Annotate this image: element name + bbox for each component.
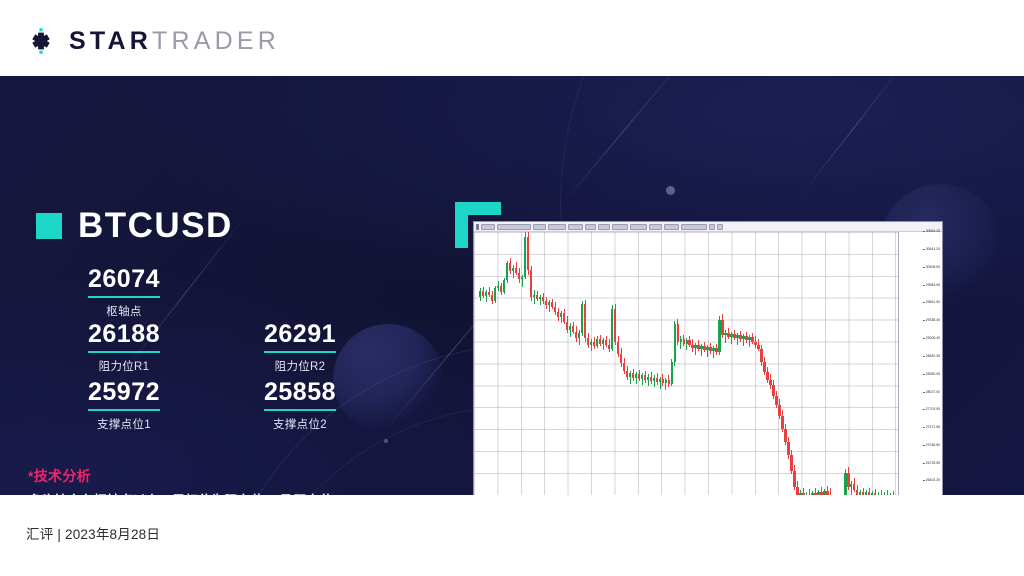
- support2-value: 25858: [264, 379, 336, 411]
- price-tick: 29338.45: [926, 319, 940, 322]
- pivot-value: 26074: [88, 266, 160, 298]
- resistance1-label: 阻力位R1: [36, 358, 212, 374]
- chart-window[interactable]: 30964.2530641.2030308.9029984.5529661.50…: [473, 221, 943, 495]
- price-tick: 27048.60: [926, 444, 940, 447]
- resistance1-value: 26188: [88, 321, 160, 353]
- price-tick: 27703.95: [926, 408, 940, 411]
- toolbar-item-line-chart[interactable]: [568, 224, 583, 230]
- resistance2-value: 26291: [264, 321, 336, 353]
- toolbar-item-bar-chart[interactable]: [533, 224, 547, 230]
- price-tick: 29984.55: [926, 284, 940, 287]
- square-marker-icon: [36, 213, 62, 239]
- asterisk-star-icon: [24, 24, 58, 58]
- stat-support-2: 25858 支撑点位2: [212, 379, 388, 432]
- support2-label: 支撑点位2: [212, 416, 388, 432]
- stat-resistance-2: 26291 阻力位R2: [212, 321, 388, 374]
- page-footer: 汇评 | 2023年8月28日: [0, 495, 1024, 576]
- symbol-title-row: BTCUSD: [36, 208, 233, 243]
- chart-toolbar[interactable]: [474, 222, 942, 232]
- toolbar-item-m1-m5-m15-m30-h1-h4-d1-w1-mn[interactable]: [497, 224, 531, 230]
- toolbar-item-grid[interactable]: [709, 224, 715, 230]
- brand-wordmark: STARTRADER: [69, 29, 280, 54]
- toolbar-item-zoom-out[interactable]: [598, 224, 610, 230]
- price-axis[interactable]: 30964.2530641.2030308.9029984.5529661.50…: [898, 232, 942, 495]
- toolbar-item-auto-scroll[interactable]: [612, 224, 629, 230]
- price-tick: 28350.05: [926, 373, 940, 376]
- stat-pivot: 26074 枢轴点: [36, 266, 212, 319]
- decorative-dot-1: [666, 186, 675, 195]
- stat-resistance-1: 26188 阻力位R1: [36, 321, 212, 374]
- price-tick: 27371.65: [926, 426, 940, 429]
- price-tick: 30964.25: [926, 230, 940, 233]
- price-tick: 29005.40: [926, 337, 940, 340]
- resistance-row: 26188 阻力位R1 26291 阻力位R2: [36, 321, 416, 374]
- toolbar-item-templates[interactable]: [649, 224, 663, 230]
- resistance2-label: 阻力位R2: [212, 358, 388, 374]
- toolbar-item-chart-shift[interactable]: [630, 224, 647, 230]
- support1-value: 25972: [88, 379, 160, 411]
- pivot-block: 26074 枢轴点: [36, 266, 416, 319]
- decorative-dot-2: [384, 439, 388, 443]
- technical-analysis-block: *技术分析 多头持仓在枢轴点以上，目标位为阻力位R1及阻力位R2。 若低于枢轴点…: [28, 466, 408, 495]
- brand-name-light: TRADER: [152, 27, 280, 55]
- toolbar-item-indicators[interactable]: [664, 224, 679, 230]
- stat-support-1: 25972 支撑点位1: [36, 379, 212, 432]
- toolbar-item-ohlc[interactable]: [717, 224, 723, 230]
- page-header: STARTRADER: [0, 0, 1024, 76]
- price-tick: 29661.50: [926, 301, 940, 304]
- candlestick: [892, 232, 894, 495]
- brand-name-bold: STAR: [69, 27, 152, 55]
- price-tick: 30308.90: [926, 266, 940, 269]
- toolbar-item-btcusd-h4[interactable]: [481, 224, 495, 230]
- pivot-label: 枢轴点: [36, 303, 212, 319]
- toolbar-item-period-separators[interactable]: [681, 224, 707, 230]
- brand-logo[interactable]: STARTRADER: [24, 24, 280, 58]
- analysis-title: *技术分析: [28, 466, 408, 486]
- toolbar-grip-icon[interactable]: [476, 224, 479, 230]
- price-tick: 28682.35: [926, 355, 940, 358]
- candlestick-series: [474, 232, 898, 495]
- page-title: BTCUSD: [78, 208, 233, 243]
- toolbar-item-zoom-in[interactable]: [585, 224, 596, 230]
- price-tick: 30641.20: [926, 248, 940, 251]
- hero-stage: BTCUSD 26074 枢轴点 26188 阻力位R1 26291 阻力位R2…: [0, 76, 1024, 495]
- price-tick: 26402.25: [926, 479, 940, 482]
- support1-label: 支撑点位1: [36, 416, 212, 432]
- toolbar-item-candle-chart[interactable]: [548, 224, 566, 230]
- price-tick: 28027.00: [926, 391, 940, 394]
- price-tick: 26725.55: [926, 462, 940, 465]
- chart-plot-area[interactable]: [474, 232, 898, 495]
- footer-caption: 汇评 | 2023年8月28日: [26, 523, 160, 543]
- support-row: 25972 支撑点位1 25858 支撑点位2: [36, 379, 416, 432]
